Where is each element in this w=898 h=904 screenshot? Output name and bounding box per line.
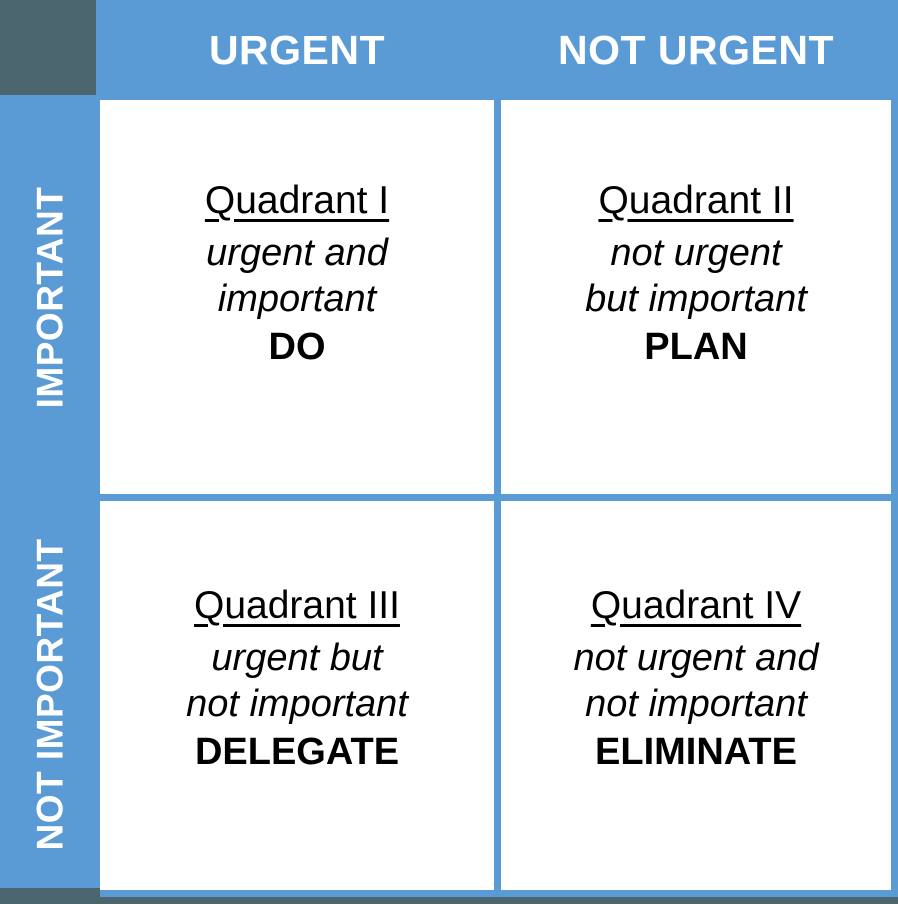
matrix-corner-block [0, 0, 96, 95]
quadrant-2-description-line-2: but important [585, 276, 807, 322]
quadrant-3-cell: Quadrant III urgent but not important DE… [100, 501, 494, 890]
grid-divider-horizontal-center [100, 494, 891, 501]
quadrant-1-description: urgent and important [206, 230, 388, 323]
quadrant-2-description: not urgent but important [585, 230, 807, 323]
eisenhower-matrix: URGENT NOT URGENT IMPORTANT NOT IMPORTAN… [0, 0, 898, 904]
row-header-important-label: IMPORTANT [32, 186, 69, 408]
quadrant-4-description-line-1: not urgent and [573, 635, 818, 681]
quadrant-4-action: ELIMINATE [595, 730, 797, 776]
quadrant-2-description-line-1: not urgent [585, 230, 807, 276]
quadrant-3-description-line-1: urgent but [186, 635, 408, 681]
quadrant-4-cell: Quadrant IV not urgent and not important… [501, 501, 891, 890]
quadrant-4-description: not urgent and not important [573, 635, 818, 728]
grid-border-bottom [100, 890, 898, 897]
column-header-not-urgent: NOT URGENT [501, 0, 891, 100]
quadrant-3-title: Quadrant III [194, 583, 400, 629]
row-header-not-important-label: NOT IMPORTANT [32, 538, 69, 850]
quadrant-3-description: urgent but not important [186, 635, 408, 728]
bottom-strip-left [0, 888, 100, 904]
row-header-not-important: NOT IMPORTANT [0, 501, 100, 888]
quadrant-3-action: DELEGATE [195, 730, 399, 776]
column-header-urgent: URGENT [100, 0, 494, 100]
quadrant-1-title: Quadrant I [205, 178, 389, 224]
grid-border-right [891, 100, 898, 897]
quadrant-2-action: PLAN [644, 325, 747, 371]
quadrant-4-title: Quadrant IV [591, 583, 801, 629]
quadrant-1-description-line-2: important [206, 276, 388, 322]
quadrant-3-description-line-2: not important [186, 681, 408, 727]
quadrant-2-cell: Quadrant II not urgent but important PLA… [501, 100, 891, 494]
quadrant-1-description-line-1: urgent and [206, 230, 388, 276]
quadrant-4-description-line-2: not important [573, 681, 818, 727]
quadrant-1-cell: Quadrant I urgent and important DO [100, 100, 494, 494]
bottom-strip-right [100, 897, 898, 904]
quadrant-1-action: DO [269, 325, 326, 371]
quadrant-2-title: Quadrant II [598, 178, 793, 224]
row-header-important: IMPORTANT [0, 100, 100, 494]
